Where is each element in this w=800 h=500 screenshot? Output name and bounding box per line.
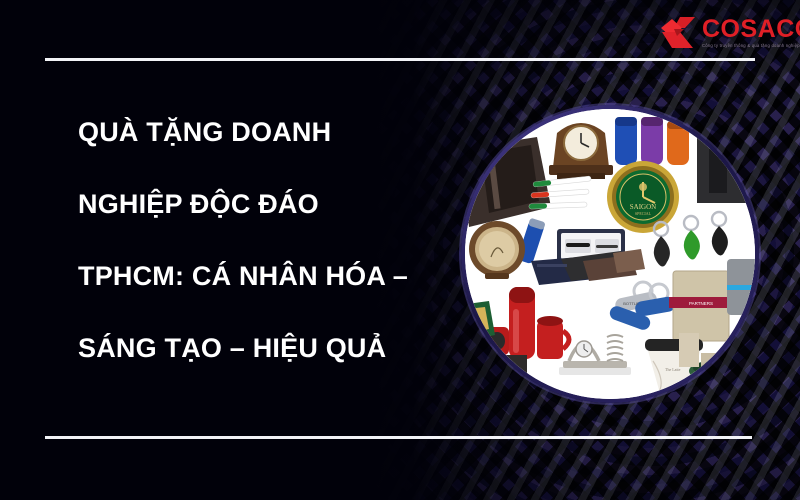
bottom-divider (45, 436, 752, 439)
page-title: QUÀ TẶNG DOANH NGHIỆP ĐỘC ĐÁO TPHCM: CÁ … (78, 96, 468, 384)
product-collage-image: SAIGON SPECIAL (465, 109, 755, 399)
brand-tagline: Công ty truyền thông & quà tặng doanh ng… (702, 44, 800, 48)
brand-logo-text: COSACO Công ty truyền thông & quà tặng d… (702, 17, 800, 48)
svg-text:The Latte: The Latte (665, 367, 681, 372)
cosaco-arrow-mark-icon (660, 16, 696, 50)
brand-logo[interactable]: COSACO Công ty truyền thông & quà tặng d… (660, 12, 788, 54)
svg-text:BOTTLE: BOTTLE (623, 301, 639, 306)
headline-line-4: SÁNG TẠO – HIỆU QUẢ (78, 312, 468, 384)
svg-text:SPECIAL: SPECIAL (635, 211, 652, 216)
svg-text:SAIGON: SAIGON (630, 203, 656, 211)
promo-banner: COSACO Công ty truyền thông & quà tặng d… (0, 0, 800, 500)
headline-line-3: TPHCM: CÁ NHÂN HÓA – (78, 240, 468, 312)
headline-line-2: NGHIỆP ĐỘC ĐÁO (78, 168, 468, 240)
svg-text:PARTNERS: PARTNERS (689, 301, 713, 306)
brand-name: COSACO (702, 17, 800, 42)
headline-line-1: QUÀ TẶNG DOANH (78, 96, 468, 168)
product-photo-ring: SAIGON SPECIAL (461, 105, 759, 403)
top-divider (45, 58, 755, 61)
